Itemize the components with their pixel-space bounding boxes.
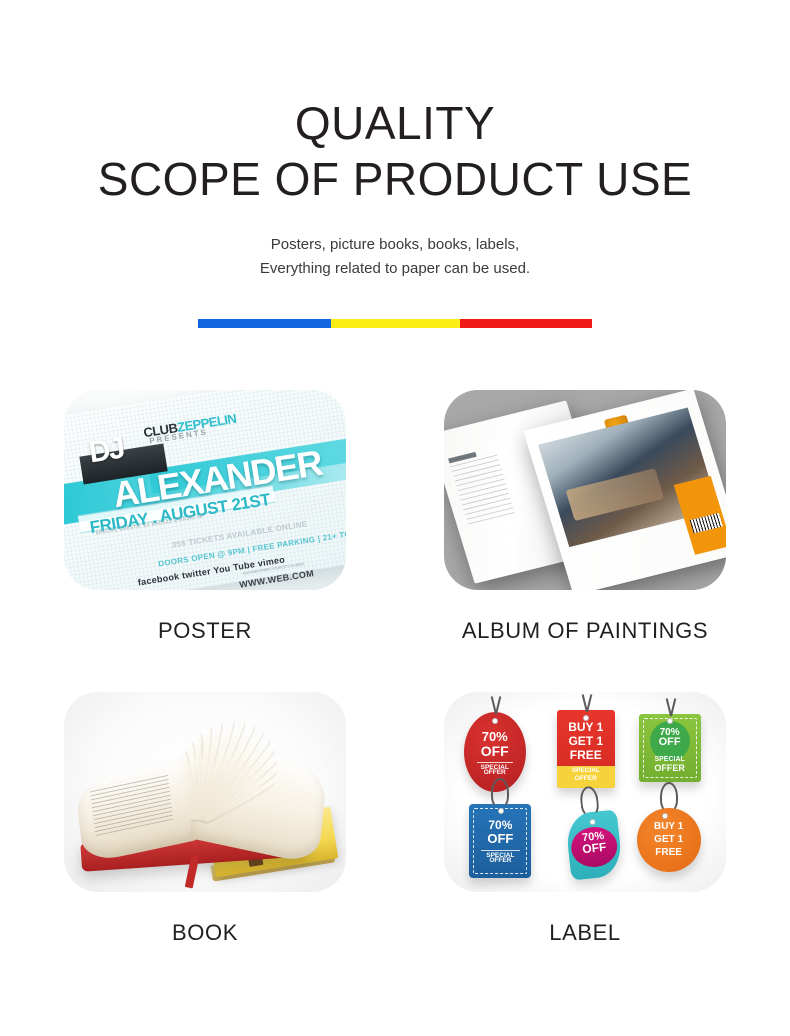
caption-label: LABEL	[443, 918, 728, 948]
tag-line-1: BUY 1	[637, 822, 701, 832]
divider-segment-blue	[198, 319, 331, 328]
book-fanned-pages	[188, 708, 301, 820]
tag-line-3: FREE	[637, 848, 701, 858]
green-tag: 70% OFF SPECIAL OFFER	[639, 714, 701, 782]
color-divider	[0, 319, 790, 328]
page-subtitle: Posters, picture books, books, labels, E…	[0, 233, 790, 281]
divider-segment-red	[460, 319, 592, 328]
tag-line-1: 70%	[469, 819, 531, 831]
tag-line-1: 70%	[464, 730, 526, 743]
tag-loop-icon	[660, 782, 678, 812]
tag-line-2: OFF	[639, 737, 701, 748]
page-title-line-2: SCOPE OF PRODUCT USE	[0, 151, 790, 207]
tag-line-2: OFF	[469, 832, 531, 845]
tag-line-4: OFFER	[469, 858, 531, 865]
tag-loop-icon	[491, 778, 509, 808]
book-thumbnail[interactable]	[64, 692, 346, 892]
tag-line-1: BUY 1	[557, 721, 615, 733]
poster-thumbnail[interactable]: CLUBZEPPELIN PRESENTS DJ ALEXANDER FRIDA…	[64, 390, 346, 590]
label-thumbnail[interactable]: 70% OFF SPECIAL OFFER BUY 1 GET 1 FREE S…	[444, 692, 726, 892]
grid-item-album[interactable]: ALBUM OF PAINTINGS	[443, 390, 728, 682]
grid-item-label[interactable]: 70% OFF SPECIAL OFFER BUY 1 GET 1 FREE S…	[443, 692, 728, 984]
page-header: QUALITY SCOPE OF PRODUCT USE Posters, pi…	[0, 0, 790, 281]
orange-circle-tag: BUY 1 GET 1 FREE	[637, 808, 701, 872]
page-title-line-1: QUALITY	[0, 95, 790, 151]
product-grid: CLUBZEPPELIN PRESENTS DJ ALEXANDER FRIDA…	[0, 390, 790, 984]
tag-line-4: OFFER	[639, 764, 701, 773]
tag-line-2: OFF	[464, 744, 526, 758]
caption-book: BOOK	[63, 918, 348, 948]
tag-line-2: GET 1	[557, 735, 615, 747]
caption-poster: POSTER	[63, 616, 348, 646]
grid-item-book[interactable]: BOOK	[63, 692, 348, 984]
tag-hole-icon	[589, 818, 596, 825]
tag-line-3: SPECIAL	[639, 756, 701, 763]
red-rect-tag: BUY 1 GET 1 FREE SPECIAL OFFER	[557, 710, 615, 788]
tag-hole-icon	[662, 813, 668, 819]
tag-line-3: FREE	[557, 749, 615, 761]
poster-dj-text: DJ	[87, 432, 126, 471]
product-use-page: QUALITY SCOPE OF PRODUCT USE Posters, pi…	[0, 0, 790, 1036]
tag-line-4: OFFER	[464, 770, 526, 777]
divider-segment-yellow	[331, 319, 460, 328]
tag-hole-icon	[492, 718, 498, 724]
grid-item-poster[interactable]: CLUBZEPPELIN PRESENTS DJ ALEXANDER FRIDA…	[63, 390, 348, 682]
album-thumbnail[interactable]	[444, 390, 726, 590]
tag-line-5: OFFER	[557, 776, 615, 783]
tag-line-4: SPECIAL	[557, 768, 615, 775]
blue-tag: 70% OFF SPECIAL OFFER	[469, 804, 531, 878]
subtitle-line-2: Everything related to paper can be used.	[0, 257, 790, 281]
magazine-text-lines	[450, 453, 515, 524]
caption-album: ALBUM OF PAINTINGS	[443, 616, 728, 646]
subtitle-line-1: Posters, picture books, books, labels,	[0, 233, 790, 257]
tag-line-2: GET 1	[637, 835, 701, 845]
